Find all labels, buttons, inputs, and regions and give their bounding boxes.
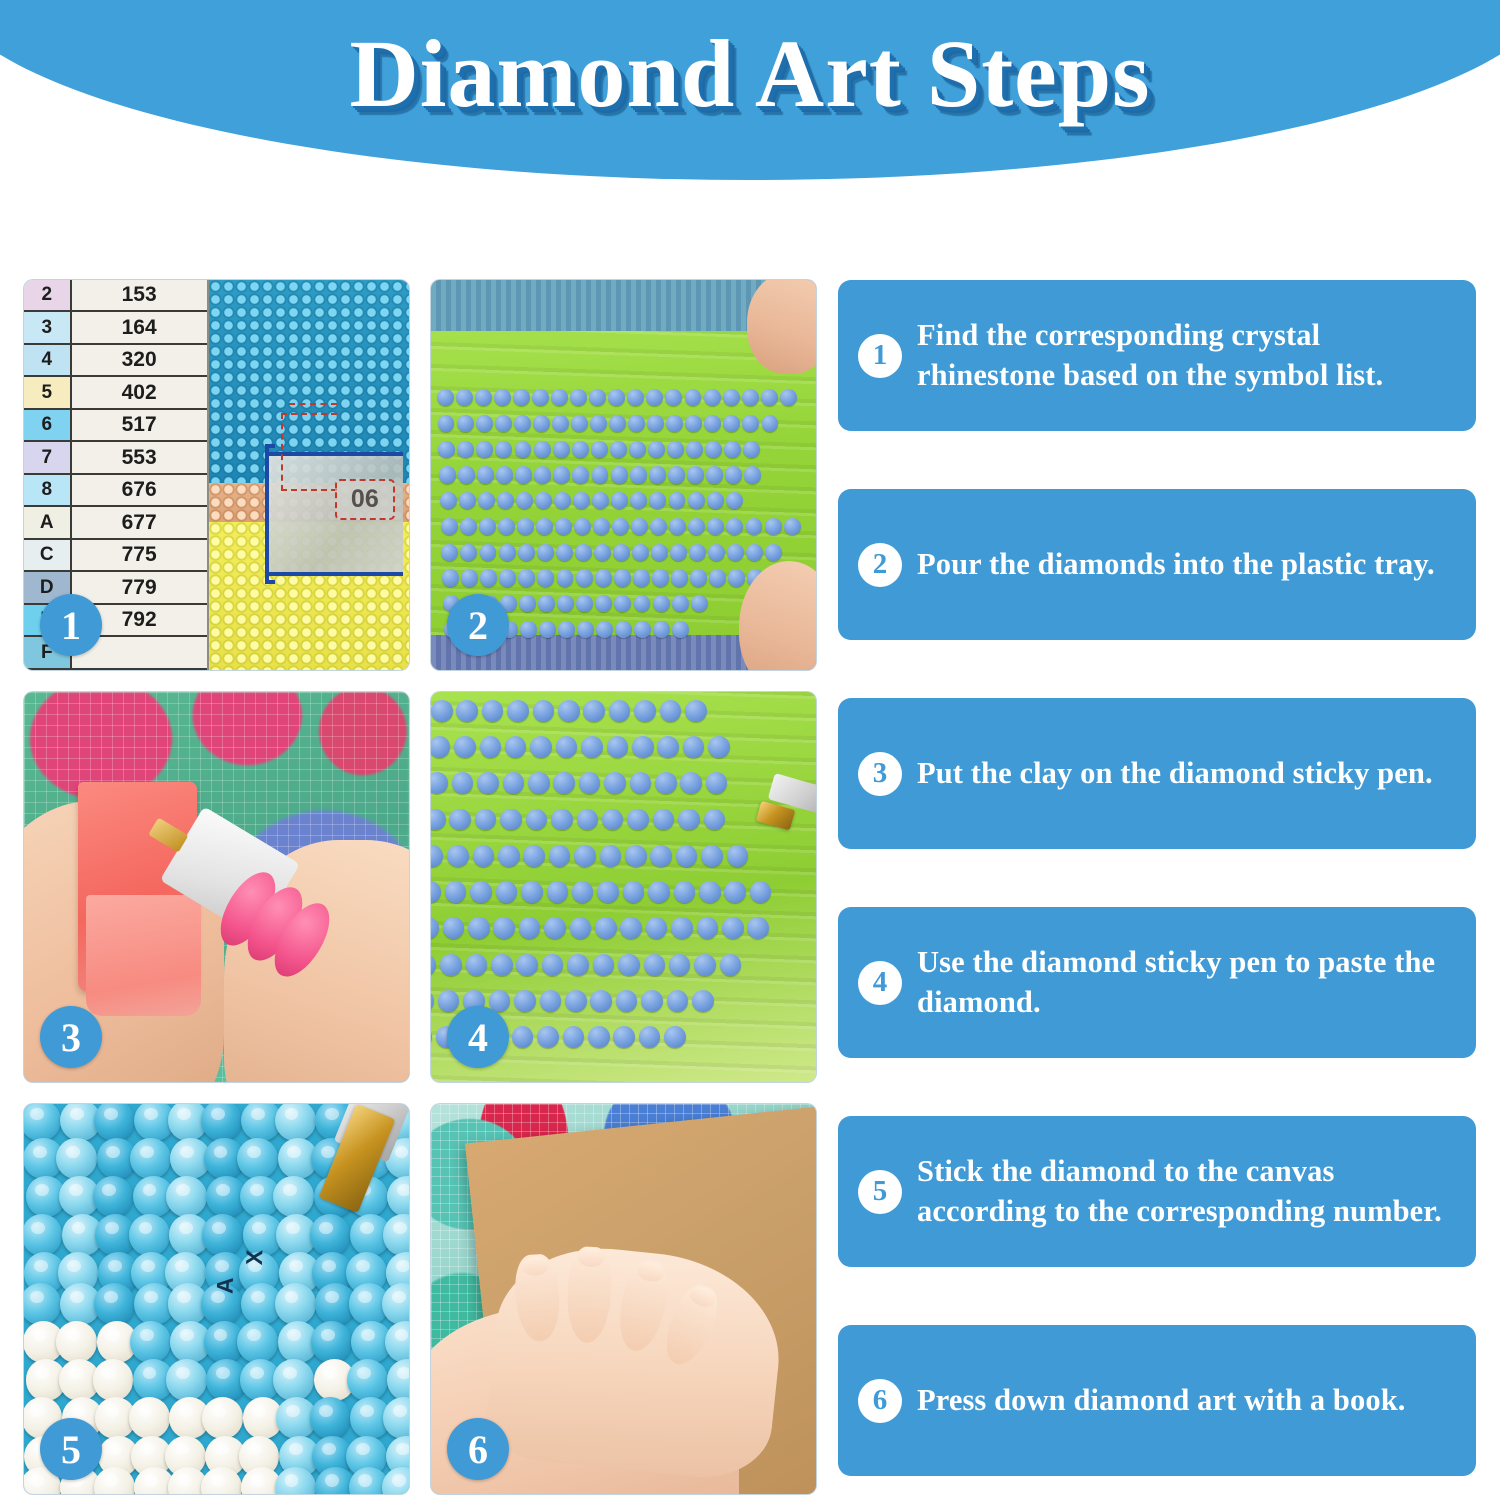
diamond-bead	[503, 772, 525, 794]
diamond-bead	[534, 441, 551, 458]
diamond-bead	[688, 492, 705, 509]
diamond-bead	[628, 415, 645, 432]
diamond-bead	[690, 569, 707, 586]
canvas-diamond	[237, 1138, 278, 1179]
diamond-bead	[744, 466, 761, 483]
diamond-bead	[475, 389, 492, 406]
diamond-bead	[499, 569, 516, 586]
diamond-bead	[573, 492, 590, 509]
diamond-bead	[556, 736, 578, 758]
diamond-bead	[547, 881, 569, 903]
diamond-bead	[609, 415, 626, 432]
diamond-bead	[632, 736, 654, 758]
diamond-bead	[594, 544, 611, 561]
diamond-bead	[634, 621, 651, 638]
diamond-bead	[629, 441, 646, 458]
canvas-diamond	[56, 1321, 97, 1362]
diamond-bead	[653, 595, 670, 612]
canvas-symbol-x: X	[241, 1250, 269, 1266]
diamond-bead	[521, 881, 543, 903]
canvas-diamond	[24, 1104, 61, 1141]
diamond-bead	[497, 492, 514, 509]
canvas-diamond	[93, 1176, 134, 1217]
diamond-bead	[765, 518, 782, 535]
step-box-3[interactable]: 3 Put the clay on the diamond sticky pen…	[838, 698, 1476, 849]
diamond-bead	[694, 954, 716, 976]
diamond-bead	[442, 569, 459, 586]
canvas-diamond	[94, 1283, 135, 1324]
diamond-bead	[563, 1026, 585, 1048]
diamond-bead	[443, 917, 465, 939]
photo-badge: 1	[40, 594, 102, 656]
diamond-bead	[528, 772, 550, 794]
diamond-bead	[516, 954, 538, 976]
diamond-bead	[491, 954, 513, 976]
canvas-diamond	[385, 1321, 409, 1362]
diamond-bead	[653, 809, 675, 831]
diamond-bead	[476, 415, 493, 432]
diamond-bead	[479, 518, 496, 535]
canvas-diamond	[347, 1359, 388, 1400]
fingernail	[687, 1285, 717, 1311]
canvas-diamond	[201, 1104, 242, 1141]
diamond-bead	[608, 389, 625, 406]
diamond-bead	[723, 389, 740, 406]
diamond-bead	[437, 389, 454, 406]
diamond-bead	[613, 1026, 635, 1048]
diamond-bead	[593, 954, 615, 976]
canvas-diamond	[24, 1214, 62, 1255]
diamond-bead	[591, 441, 608, 458]
code-cell: 779	[72, 572, 207, 604]
diamond-bead	[458, 466, 475, 483]
diamond-bead	[706, 466, 723, 483]
diamond-bead	[542, 954, 564, 976]
clay-strip-fold	[86, 895, 202, 1016]
diamond-bead	[630, 466, 647, 483]
diamond-bead	[431, 1026, 432, 1048]
canvas-diamond	[273, 1359, 314, 1400]
diamond-bead	[724, 441, 741, 458]
step-number-6: 6	[858, 1379, 902, 1423]
canvas-closeup-1: 06	[209, 280, 409, 670]
diamond-bead	[549, 845, 571, 867]
photo-panel-pour-tray[interactable]: 2	[431, 280, 816, 670]
diamond-bead	[647, 415, 664, 432]
diamond-bead	[539, 621, 556, 638]
photo-panel-paste-diamond[interactable]: 4	[431, 692, 816, 1082]
code-cell: 164	[72, 312, 207, 344]
diamond-bead	[589, 389, 606, 406]
diamond-bead	[701, 845, 723, 867]
diamond-bead	[651, 544, 668, 561]
diamond-bead	[612, 518, 629, 535]
step-number-2: 2	[858, 543, 902, 587]
page-title: Diamond Art Steps	[0, 18, 1500, 129]
step-number-3: 3	[858, 752, 902, 796]
diamond-bead	[478, 492, 495, 509]
diamond-bead	[494, 389, 511, 406]
diamond-bead	[461, 569, 478, 586]
symbol-cell: 5	[24, 377, 70, 409]
diamond-bead	[653, 621, 670, 638]
diamond-bead	[672, 595, 689, 612]
diamond-bead	[552, 415, 569, 432]
canvas-diamond	[387, 1176, 409, 1217]
diamond-bead	[685, 700, 707, 722]
diamond-bead	[641, 990, 663, 1012]
diamond-bead	[670, 544, 687, 561]
photo-grid: 06 2 3 4 5 6 7 8 A C D	[24, 280, 816, 1476]
diamond-bead	[441, 544, 458, 561]
canvas-diamond	[56, 1138, 97, 1179]
canvas-diamond	[310, 1214, 351, 1255]
diamond-bead	[574, 518, 591, 535]
diamond-bead	[697, 917, 719, 939]
diamond-bead	[623, 881, 645, 903]
code-cell: 517	[72, 410, 207, 442]
diamond-bead	[457, 415, 474, 432]
diamond-bead	[439, 466, 456, 483]
diamond-bead	[517, 518, 534, 535]
diamond-bead	[505, 736, 527, 758]
diamond-bead	[534, 466, 551, 483]
diamond-bead	[480, 736, 502, 758]
diamond-bead	[571, 415, 588, 432]
diamond-bead	[723, 415, 740, 432]
step-text-4: Use the diamond sticky pen to paste the …	[917, 943, 1454, 1021]
diamond-bead	[576, 569, 593, 586]
diamond-bead	[514, 990, 536, 1012]
diamond-bead	[515, 441, 532, 458]
diamond-bead	[431, 736, 450, 758]
fingernail	[577, 1247, 605, 1268]
header-banner: Diamond Art Steps	[0, 0, 1500, 180]
diamond-bead	[652, 569, 669, 586]
diamond-bead	[460, 518, 477, 535]
diamond-bead	[523, 845, 545, 867]
diamond-bead	[507, 700, 529, 722]
photo-badge: 6	[447, 1418, 509, 1480]
diamond-bead	[708, 544, 725, 561]
diamond-bead	[650, 845, 672, 867]
diamond-bead	[590, 415, 607, 432]
diamond-bead	[520, 621, 537, 638]
diamond-bead	[632, 544, 649, 561]
diamond-bead	[709, 569, 726, 586]
diamond-bead	[536, 518, 553, 535]
diamond-bead	[691, 595, 708, 612]
diamond-bead	[431, 845, 443, 867]
finger	[612, 1256, 673, 1355]
diamond-bead	[553, 772, 575, 794]
diamond-bead	[518, 544, 535, 561]
fingernail	[521, 1256, 550, 1277]
canvas-diamond	[166, 1176, 207, 1217]
symbol-cell: 7	[24, 442, 70, 474]
diamond-bead	[533, 415, 550, 432]
diamond-bead	[555, 518, 572, 535]
diamond-bead	[595, 569, 612, 586]
diamond-bead	[553, 466, 570, 483]
diamond-bead	[537, 544, 554, 561]
diamond-bead	[611, 466, 628, 483]
canvas-diamond	[382, 1283, 409, 1324]
code-cell: 402	[72, 377, 207, 409]
canvas-diamond	[387, 1359, 409, 1400]
diamond-bead	[515, 466, 532, 483]
diamond-bead	[634, 700, 656, 722]
diamond-bead	[742, 389, 759, 406]
photo-panel-symbol-list[interactable]: 06 2 3 4 5 6 7 8 A C D	[24, 280, 409, 670]
diamond-bead	[595, 595, 612, 612]
diamond-bead	[666, 415, 683, 432]
canvas-diamond	[383, 1397, 409, 1438]
canvas-diamond	[202, 1397, 243, 1438]
photo-badge: 5	[40, 1418, 102, 1480]
diamond-bead	[496, 881, 518, 903]
canvas-diamond	[129, 1214, 170, 1255]
canvas-diamond	[202, 1214, 243, 1255]
infographic-page: Diamond Art Steps	[0, 0, 1500, 1500]
diamond-bead	[674, 881, 696, 903]
bag-number-label: 06	[335, 479, 395, 520]
step-text-5: Stick the diamond to the canvas accordin…	[917, 1152, 1454, 1230]
diamond-bead	[660, 700, 682, 722]
diamond-bead	[438, 415, 455, 432]
finger	[565, 1246, 613, 1344]
diamond-bead	[743, 441, 760, 458]
step-box-6[interactable]: 6 Press down diamond art with a book.	[838, 1325, 1476, 1476]
main-content: 06 2 3 4 5 6 7 8 A C D	[0, 258, 1500, 1500]
diamond-bead	[593, 518, 610, 535]
diamond-bead	[722, 917, 744, 939]
diamond-bead	[618, 954, 640, 976]
diamond-bead	[609, 700, 631, 722]
diamond-bead	[440, 492, 457, 509]
diamond-bead	[676, 845, 698, 867]
symbol-cell: C	[24, 540, 70, 572]
diamond-bead	[704, 389, 721, 406]
diamond-bead	[650, 518, 667, 535]
diamond-bead	[724, 881, 746, 903]
diamond-bead	[610, 441, 627, 458]
diamond-bead	[496, 466, 513, 483]
symbol-cell: 3	[24, 312, 70, 344]
diamond-bead	[540, 990, 562, 1012]
diamond-bead	[671, 569, 688, 586]
diamond-bead	[551, 809, 573, 831]
diamond-bead	[480, 569, 497, 586]
diamond-bead	[685, 389, 702, 406]
diamond-bead	[602, 809, 624, 831]
code-cell: 775	[72, 540, 207, 572]
diamond-bead	[633, 569, 650, 586]
diamond-bead	[655, 772, 677, 794]
diamond-bead	[577, 621, 594, 638]
photo-panel-stick-canvas[interactable]: X A 5	[24, 1104, 409, 1494]
diamond-bead	[683, 736, 705, 758]
symbol-cell: 2	[24, 280, 70, 312]
canvas-diamond	[129, 1397, 170, 1438]
photo-panel-press-book[interactable]: 6	[431, 1104, 816, 1494]
code-cell: 677	[72, 507, 207, 539]
diamond-bead	[630, 772, 652, 794]
symbol-cell: 6	[24, 410, 70, 442]
diamond-bead	[657, 736, 679, 758]
diamond-bead	[431, 809, 446, 831]
diamond-bead	[470, 881, 492, 903]
step-text-6: Press down diamond art with a book.	[917, 1381, 1405, 1420]
diamond-bead	[625, 845, 647, 867]
diamond-bead	[500, 809, 522, 831]
symbol-cell: A	[24, 507, 70, 539]
diamond-bead	[634, 595, 651, 612]
diamond-bead	[615, 621, 632, 638]
diamond-bead	[449, 809, 471, 831]
diamond-bead	[672, 621, 689, 638]
diamond-bead	[516, 492, 533, 509]
diamond-bead	[475, 809, 497, 831]
diamond-bead	[498, 845, 520, 867]
diamond-bead	[592, 466, 609, 483]
step-number-4: 4	[858, 961, 902, 1005]
diamond-bead	[537, 1026, 559, 1048]
diamond-bead	[667, 990, 689, 1012]
diamond-bead	[784, 518, 801, 535]
diamond-bead	[556, 544, 573, 561]
diamond-bead	[597, 881, 619, 903]
diamond-bead	[557, 569, 574, 586]
diamond-bead	[438, 441, 455, 458]
symbol-cell: 4	[24, 345, 70, 377]
canvas-diamond	[382, 1467, 409, 1494]
diamond-bead	[513, 389, 530, 406]
diamond-bead	[727, 845, 749, 867]
diamond-bead	[456, 389, 473, 406]
diamond-bead	[579, 772, 601, 794]
canvas-diamond	[275, 1104, 316, 1141]
diamond-bead	[438, 990, 460, 1012]
canvas-diamond	[275, 1283, 316, 1324]
finger-top	[747, 280, 816, 374]
diamond-bead	[476, 441, 493, 458]
diamond-bead	[572, 441, 589, 458]
diamond-bead	[728, 569, 745, 586]
diamond-bead	[614, 569, 631, 586]
canvas-diamond	[93, 1359, 134, 1400]
finger	[513, 1253, 562, 1343]
canvas-diamond	[24, 1283, 61, 1324]
diamond-bead	[590, 990, 612, 1012]
diamond-bead	[750, 881, 772, 903]
diamond-bead	[611, 492, 628, 509]
diamond-bead	[518, 569, 535, 586]
photo-badge: 2	[447, 594, 509, 656]
diamond-bead	[544, 917, 566, 939]
diamond-bead	[526, 809, 548, 831]
diamond-bead	[630, 492, 647, 509]
diamond-bead	[644, 954, 666, 976]
diamond-bead	[554, 492, 571, 509]
diamond-bead	[669, 492, 686, 509]
canvas-diamond	[130, 1138, 171, 1179]
diamond-bead	[648, 441, 665, 458]
diamond-bead	[665, 389, 682, 406]
diamond-bead	[686, 441, 703, 458]
diamond-bead	[431, 881, 441, 903]
diamond-bead	[530, 736, 552, 758]
diamond-bead	[577, 809, 599, 831]
step-box-2[interactable]: 2 Pour the diamonds into the plastic tra…	[838, 489, 1476, 640]
diamond-bead	[604, 772, 626, 794]
step-text-3: Put the clay on the diamond sticky pen.	[917, 754, 1433, 793]
diamond-bead	[499, 544, 516, 561]
plastic-bag-left-edge	[265, 444, 275, 584]
diamond-bead	[460, 544, 477, 561]
diamond-bead	[613, 544, 630, 561]
diamond-bead	[667, 441, 684, 458]
diamond-bead	[533, 700, 555, 722]
photo-badge: 3	[40, 1006, 102, 1068]
diamond-bead	[576, 595, 593, 612]
diamond-bead	[570, 917, 592, 939]
diamond-bead	[664, 1026, 686, 1048]
steps-column: 1 Find the corresponding crystal rhinest…	[838, 280, 1476, 1476]
diamond-bead	[572, 466, 589, 483]
diamond-bead	[704, 415, 721, 432]
diamond-bead	[558, 621, 575, 638]
fingernail	[634, 1259, 665, 1284]
canvas-diamond	[166, 1359, 207, 1400]
diamond-bead	[746, 518, 763, 535]
diamond-bead	[431, 772, 448, 794]
diamond-bead	[565, 990, 587, 1012]
diamond-bead	[512, 1026, 534, 1048]
diamond-bead	[454, 736, 476, 758]
diamond-bead	[447, 845, 469, 867]
step-box-4[interactable]: 4 Use the diamond sticky pen to paste th…	[838, 907, 1476, 1058]
diamond-bead	[592, 492, 609, 509]
diamond-bead	[720, 954, 742, 976]
diamond-bead	[551, 389, 568, 406]
code-cell: 153	[72, 280, 207, 312]
canvas-symbol-a: A	[211, 1276, 239, 1294]
diamond-bead	[708, 736, 730, 758]
diamond-bead	[440, 954, 462, 976]
diamond-bead	[742, 415, 759, 432]
diamond-bead	[727, 544, 744, 561]
diamond-bead	[557, 595, 574, 612]
diamond-bead	[466, 954, 488, 976]
step-box-1[interactable]: 1 Find the corresponding crystal rhinest…	[838, 280, 1476, 431]
diamond-bead	[649, 466, 666, 483]
diamond-bead	[747, 917, 769, 939]
diamond-bead	[668, 466, 685, 483]
diamond-bead	[646, 917, 668, 939]
step-box-5[interactable]: 5 Stick the diamond to the canvas accord…	[838, 1116, 1476, 1267]
diamond-bead	[627, 809, 649, 831]
diamond-bead	[482, 700, 504, 722]
diamond-bead	[431, 990, 434, 1012]
diamond-bead	[445, 881, 467, 903]
diamond-bead	[431, 917, 439, 939]
diamond-bead	[519, 917, 541, 939]
diamond-bead	[685, 415, 702, 432]
photo-panel-clay-pen[interactable]: 3	[24, 692, 409, 1082]
diamond-bead	[570, 389, 587, 406]
diamond-bead	[537, 569, 554, 586]
